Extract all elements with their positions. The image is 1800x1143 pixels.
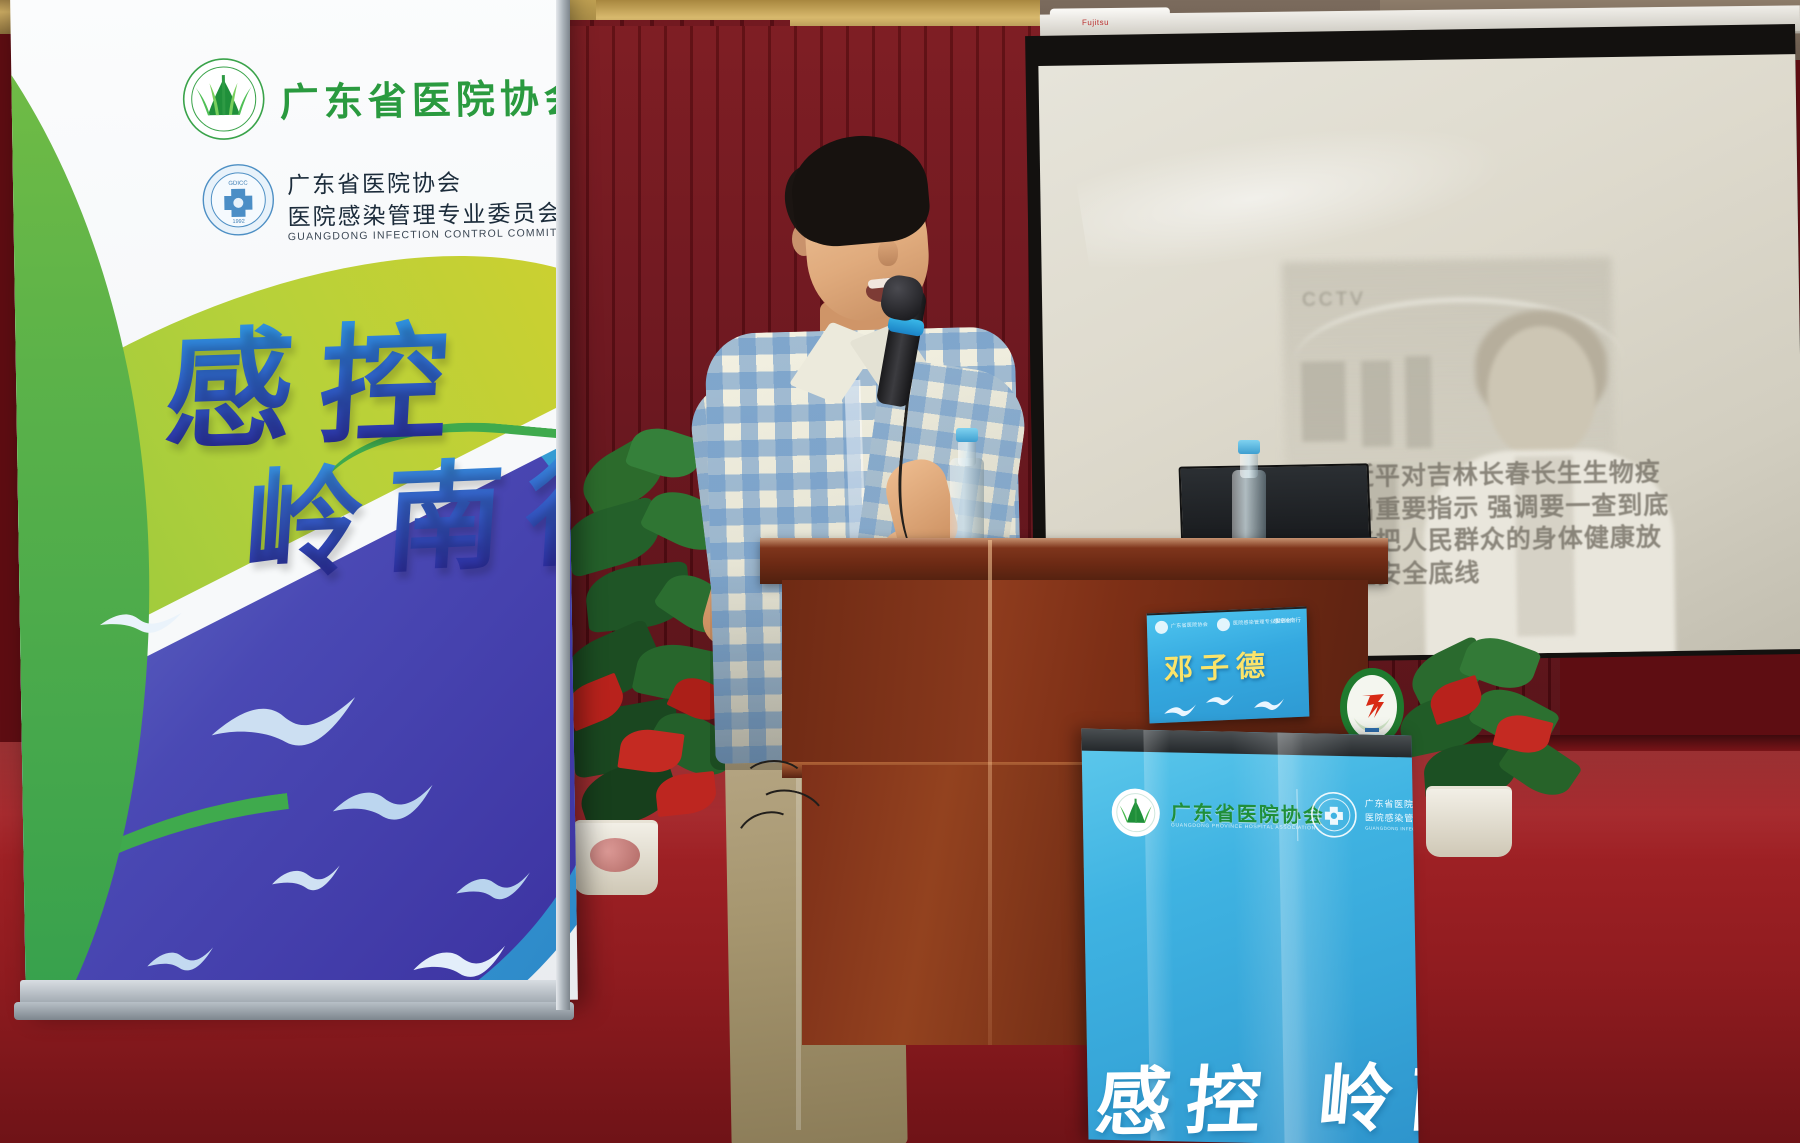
projector-brand-label: Fujitsu (1082, 18, 1109, 27)
banner-org-title: 广东省医院协会 (279, 67, 578, 128)
roll-up-banner: 广东省医院协会 GDICC 1992 广东省医院协会 医院感染管理专业委员会 G… (10, 0, 578, 1008)
water-bottle-right-neck (1240, 452, 1258, 478)
studio-shelf (1361, 360, 1392, 446)
banner-foot (14, 1002, 574, 1020)
nameplate-assoc-label: 广东省医院协会 (1171, 621, 1208, 630)
speaker-name: 邓子德 (1164, 642, 1273, 689)
banner-pole (556, 0, 570, 1010)
skirt-committee-english: GUANGDONG INFECTION CONTROL COMMITTEE (1365, 825, 1419, 833)
anchor-head (1487, 325, 1597, 459)
guangdong-hospital-association-seal (1110, 787, 1161, 838)
bird-icon (1253, 698, 1285, 719)
speaker-nameplate: 广东省医院协会 医院感染管理专业委员会 感控岭南行 邓子德 (1147, 607, 1310, 724)
bird-icon (454, 870, 533, 909)
svg-text:1992: 1992 (232, 219, 244, 225)
scene-photo: Fujitsu CCTV 习近平对吉林长春长生生物疫 作出重要指示 强调要一查到… (0, 0, 1800, 1143)
water-bottle-right-cap (1238, 440, 1260, 454)
studio-shelf (1301, 361, 1346, 442)
broadcast-caption: 习近平对吉林长春长生生物疫 作出重要指示 强调要一查到底 始终把人民群众的身体健… (1323, 454, 1800, 592)
bird-icon (1163, 703, 1198, 723)
bird-icon (330, 782, 435, 836)
podium-left-face (782, 580, 992, 770)
svg-text:GDICC: GDICC (228, 181, 248, 187)
banner-committee-line-1: 广东省医院协会 (287, 163, 463, 200)
podium-top-highlight (760, 538, 1388, 548)
cctv-watermark: CCTV (1302, 287, 1462, 314)
podium-corner-edge (988, 540, 992, 1045)
skirt-committee-line-1: 广东省医院协会 (1365, 796, 1419, 810)
anthurium-plant-right (1400, 640, 1610, 880)
screen-glare (1074, 99, 1517, 284)
banner-headline-line-2: 岭南行 (240, 413, 578, 602)
skirt-committee-line-2: 医院感染管理专业委员会 (1365, 810, 1419, 825)
ceramic-planter (1426, 786, 1512, 857)
gdicc-seal: GDICC 1992 (201, 162, 276, 237)
bird-icon (1205, 694, 1235, 714)
podium-skirt-banner: 广东省医院协会 GUANGDONG PROVINCE HOSPITAL ASSO… (1081, 729, 1418, 1143)
guangdong-hospital-association-seal (181, 56, 266, 141)
presenter-hair (788, 130, 933, 249)
bird-icon (145, 945, 216, 980)
caption-line-4: 守住安全底线 (1324, 552, 1800, 592)
skirt-headline: 感控 岭南行 (1092, 1037, 1419, 1143)
banner-committee-line-2: 医院感染管理专业委员会 (287, 194, 563, 232)
bird-icon (98, 608, 185, 649)
nameplate-assoc-logo-icon (1155, 621, 1168, 635)
water-bottle-left-cap (956, 428, 978, 442)
presenter-nose (878, 240, 898, 266)
bird-icon (209, 693, 358, 767)
studio-shelf (1405, 356, 1432, 448)
gdicc-seal (1310, 791, 1357, 838)
bird-icon (270, 863, 343, 900)
nameplate-committee-logo-icon (1217, 618, 1230, 632)
water-bottle-left-neck (958, 440, 976, 466)
nameplate-right-label: 感控岭南行 (1273, 616, 1301, 625)
